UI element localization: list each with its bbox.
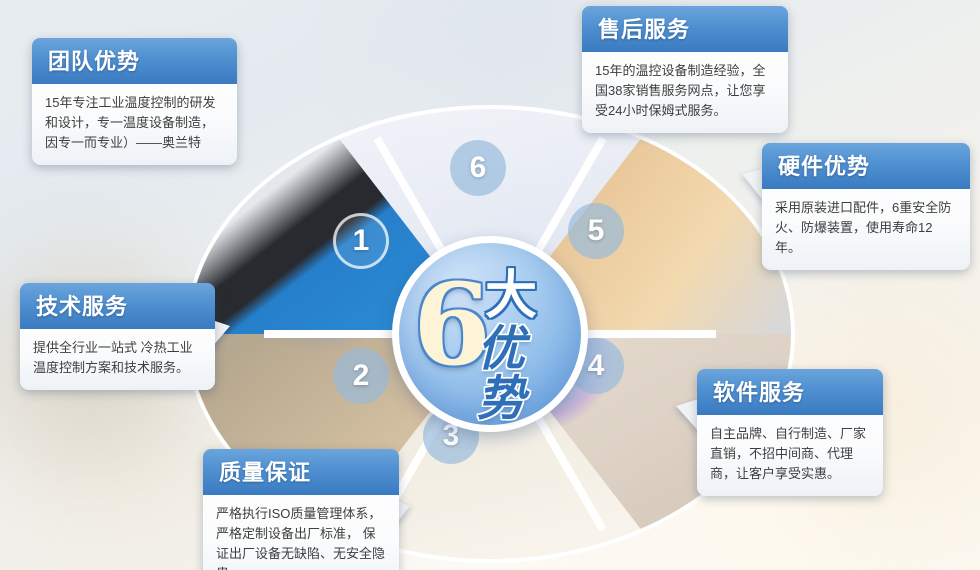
callout-technical-service[interactable]: 技术服务 提供全行业一站式 冷热工业温度控制方案和技术服务。 — [20, 283, 215, 390]
callout-team-advantage[interactable]: 团队优势 15年专注工业温度控制的研发和设计，专一温度设备制造，因专一而专业）—… — [32, 38, 237, 165]
callout-after-sales-text: 15年的温控设备制造经验，全国38家销售服务网点，让您享受24小时保姆式服务。 — [582, 52, 788, 133]
callout-quality-title: 质量保证 — [203, 449, 399, 495]
segment-number-5[interactable]: 5 — [568, 203, 624, 259]
center-big-char: 大 — [485, 270, 537, 322]
callout-software-title: 软件服务 — [697, 369, 883, 415]
callout-team-text: 15年专注工业温度控制的研发和设计，专一温度设备制造，因专一而专业）——奥兰特 — [32, 84, 237, 165]
callout-tech-text: 提供全行业一站式 冷热工业温度控制方案和技术服务。 — [20, 329, 215, 390]
callout-tech-title: 技术服务 — [20, 283, 215, 329]
callout-hardware-title: 硬件优势 — [762, 143, 970, 189]
callout-team-title: 团队优势 — [32, 38, 237, 84]
segment-number-2[interactable]: 2 — [333, 348, 389, 404]
callout-quality-text: 严格执行ISO质量管理体系，严格定制设备出厂标准， 保证出厂设备无缺陷、无安全隐… — [203, 495, 399, 570]
callout-quality-assurance[interactable]: 质量保证 严格执行ISO质量管理体系，严格定制设备出厂标准， 保证出厂设备无缺陷… — [203, 449, 399, 570]
callout-hardware-text: 采用原装进口配件，6重安全防火、防爆装置，使用寿命12年。 — [762, 189, 970, 270]
center-hub-artwork: 6 大 优势 — [415, 278, 565, 390]
center-hub: 6 大 优势 — [392, 236, 588, 432]
callout-after-sales[interactable]: 售后服务 15年的温控设备制造经验，全国38家销售服务网点，让您享受24小时保姆… — [582, 6, 788, 133]
segment-number-1[interactable]: 1 — [333, 213, 389, 269]
callout-hardware-advantage[interactable]: 硬件优势 采用原装进口配件，6重安全防火、防爆装置，使用寿命12年。 — [762, 143, 970, 270]
center-sub-text: 优势 — [477, 324, 565, 424]
callout-after-sales-title: 售后服务 — [582, 6, 788, 52]
segment-number-6[interactable]: 6 — [450, 140, 506, 196]
callout-software-text: 自主品牌、自行制造、厂家直销，不招中间商、代理商，让客户享受实惠。 — [697, 415, 883, 496]
callout-software-service[interactable]: 软件服务 自主品牌、自行制造、厂家直销，不招中间商、代理商，让客户享受实惠。 — [697, 369, 883, 496]
